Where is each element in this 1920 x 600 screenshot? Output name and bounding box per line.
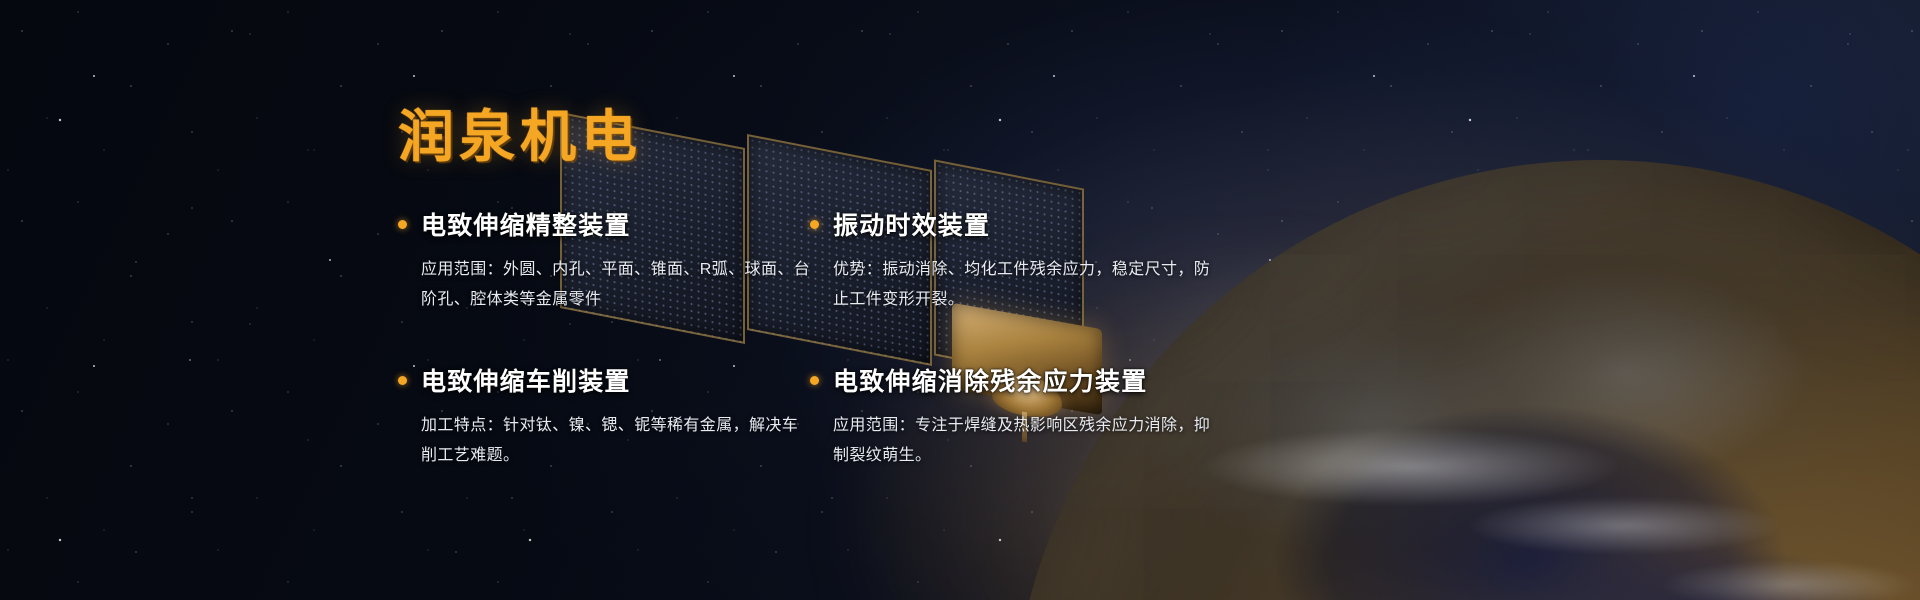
feature-description: 优势：振动消除、均化工件残余应力，稳定尺寸，防止工件变形开裂。 [833,255,1225,315]
hero-banner: 润泉机电 电致伸缩精整装置 应用范围：外圆、内孔、平面、锥面、R弧、球面、台阶孔… [0,0,1920,600]
bullet-dot-icon [398,376,407,385]
feature-heading: 电致伸缩精整装置 [421,206,631,242]
feature-block-vibration-aging[interactable]: 振动时效装置 优势：振动消除、均化工件残余应力，稳定尺寸，防止工件变形开裂。 [810,206,1230,315]
feature-description: 加工特点：针对钛、镍、锶、铌等稀有金属，解决车削工艺难题。 [421,411,813,471]
feature-heading-row: 电致伸缩精整装置 [398,206,818,242]
bullet-dot-icon [810,376,819,385]
feature-block-residual-stress-relief[interactable]: 电致伸缩消除残余应力装置 应用范围：专注于焊缝及热影响区残余应力消除，抑制裂纹萌… [810,362,1230,471]
bullet-dot-icon [810,220,819,229]
feature-block-electrostrictive-finishing[interactable]: 电致伸缩精整装置 应用范围：外圆、内孔、平面、锥面、R弧、球面、台阶孔、腔体类等… [398,206,818,315]
feature-heading-row: 振动时效装置 [810,206,1230,242]
feature-heading: 电致伸缩车削装置 [421,362,631,398]
feature-heading-row: 电致伸缩消除残余应力装置 [810,362,1230,398]
feature-description: 应用范围：外圆、内孔、平面、锥面、R弧、球面、台阶孔、腔体类等金属零件 [421,255,813,315]
bullet-dot-icon [398,220,407,229]
feature-heading: 电致伸缩消除残余应力装置 [833,362,1147,398]
feature-block-electrostrictive-turning[interactable]: 电致伸缩车削装置 加工特点：针对钛、镍、锶、铌等稀有金属，解决车削工艺难题。 [398,362,818,471]
feature-description: 应用范围：专注于焊缝及热影响区残余应力消除，抑制裂纹萌生。 [833,411,1225,471]
feature-heading-row: 电致伸缩车削装置 [398,362,818,398]
brand-title: 润泉机电 [398,92,642,173]
feature-heading: 振动时效装置 [833,206,990,242]
banner-content: 润泉机电 电致伸缩精整装置 应用范围：外圆、内孔、平面、锥面、R弧、球面、台阶孔… [0,0,1920,600]
